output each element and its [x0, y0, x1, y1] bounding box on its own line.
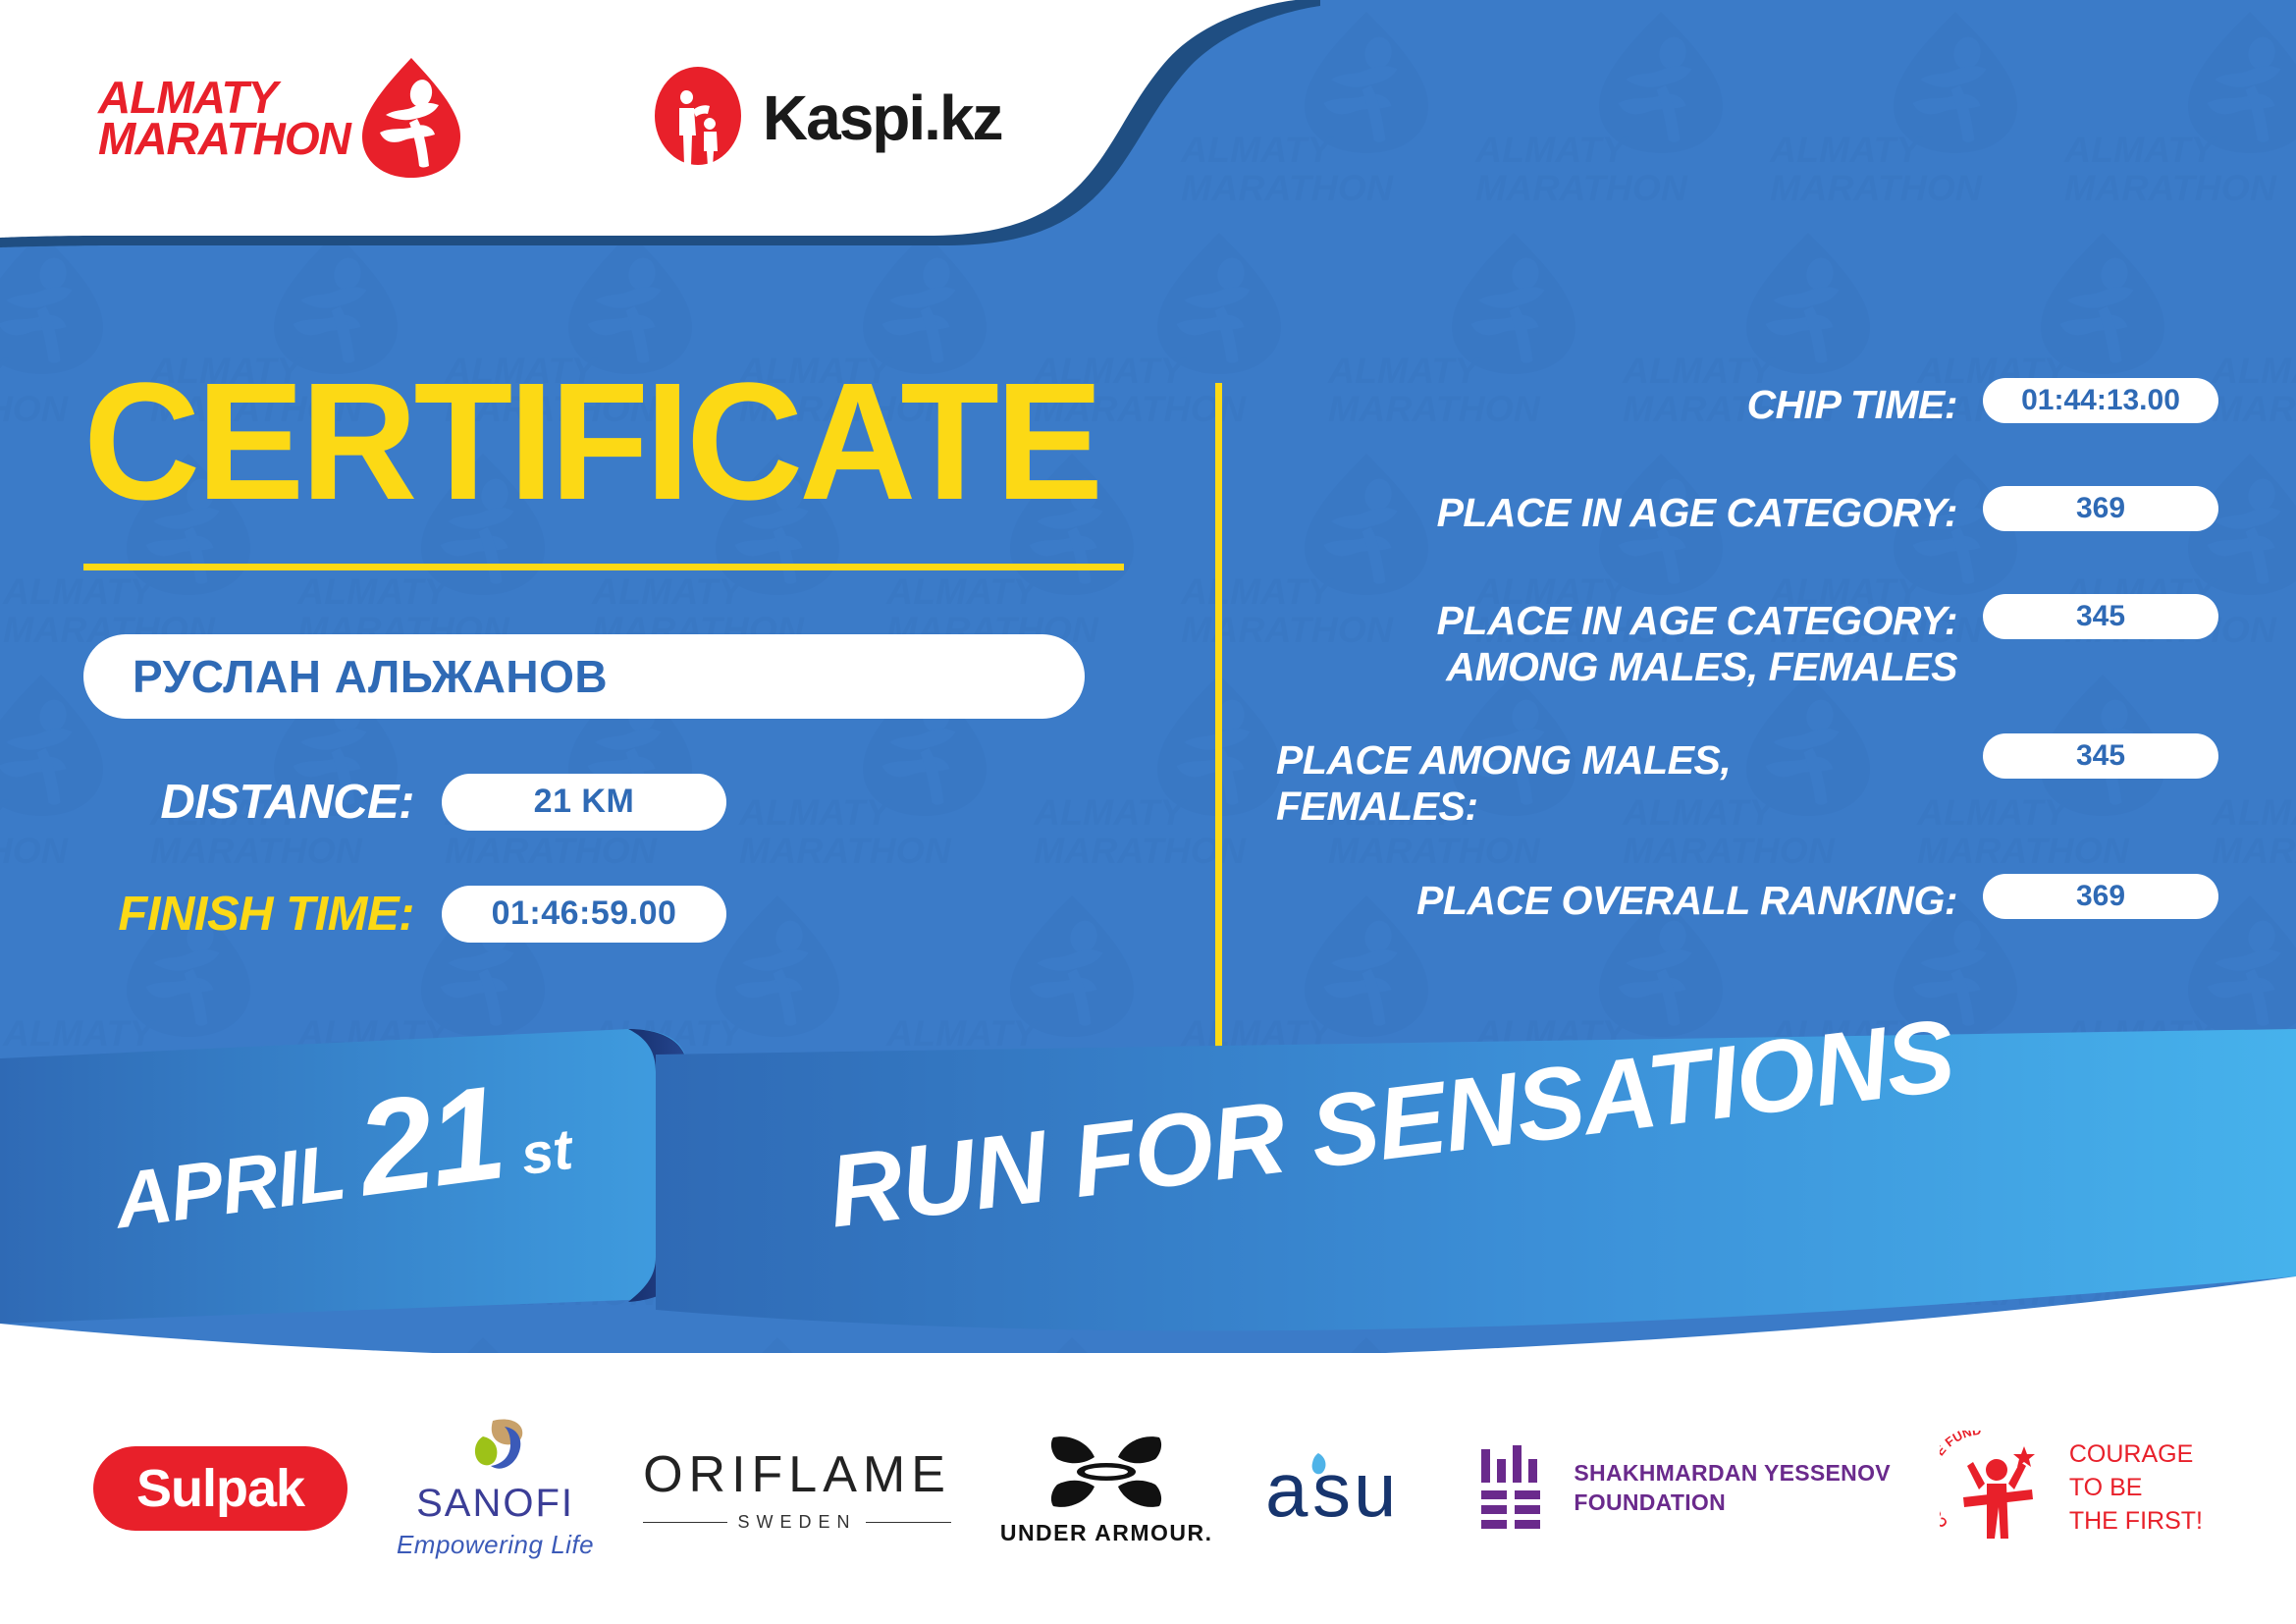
- oriflame-sub: SWEDEN: [643, 1512, 951, 1533]
- yessenov-line2: FOUNDATION: [1574, 1489, 1891, 1518]
- finish-time-label: FINISH TIME:: [83, 887, 442, 942]
- event-day: 21: [349, 1056, 510, 1226]
- sponsor-sulpak: Sulpak: [93, 1446, 347, 1531]
- stat-label-line2: FEMALES:: [1276, 784, 1957, 830]
- participant-name-field: РУСЛАН АЛЬЖАНОВ: [83, 634, 1085, 719]
- stat-row: PLACE OVERALL RANKING: 369: [1276, 874, 2218, 939]
- stat-row: PLACE AMONG MALES, FEMALES: 345: [1276, 733, 2218, 830]
- stat-row: PLACE IN AGE CATEGORY: 369: [1276, 486, 2218, 551]
- courage-line1: COURAGE: [2069, 1438, 2203, 1472]
- stat-value: 369: [2076, 880, 2125, 913]
- sponsor-under-armour: UNDER ARMOUR.: [1000, 1432, 1213, 1546]
- asu-logo: a s u: [1261, 1443, 1428, 1534]
- finish-time-value: 01:46:59.00: [492, 894, 677, 933]
- oriflame-rule-left: [643, 1522, 727, 1523]
- yessenov-foundation-logo: [1477, 1443, 1548, 1534]
- stat-label-line1: PLACE IN AGE CATEGORY:: [1276, 598, 1957, 644]
- stat-value: 01:44:13.00: [2021, 384, 2180, 417]
- courage-first-logo: CORPORATE FUND: [1940, 1431, 2054, 1546]
- sponsor-sanofi: SANOFI Empowering Life: [397, 1417, 594, 1560]
- courage-wordmark: COURAGE TO BE THE FIRST!: [2069, 1438, 2203, 1538]
- sponsor-bar: Sulpak SANOFI Empowering Life ORIFLAME S…: [0, 1353, 2296, 1624]
- sponsor-oriflame: ORIFLAME SWEDEN: [643, 1445, 951, 1533]
- certificate-canvas: ALMATY MARATHON ALMATY MARATHON ALMA: [0, 0, 2296, 1624]
- sulpak-logo: Sulpak: [93, 1446, 347, 1531]
- oriflame-rule-right: [866, 1522, 950, 1523]
- stat-value: 345: [2076, 600, 2125, 633]
- distance-label: DISTANCE:: [83, 775, 442, 830]
- svg-text:a: a: [1265, 1446, 1308, 1533]
- finish-time-row: FINISH TIME: 01:46:59.00: [83, 886, 1183, 943]
- sponsor-yessenov-foundation: SHAKHMARDAN YESSENOV FOUNDATION: [1477, 1443, 1891, 1534]
- event-month: APRIL: [110, 1127, 350, 1247]
- distance-value: 21 KM: [534, 783, 635, 821]
- stat-value-pill: 369: [1983, 874, 2218, 919]
- oriflame-country: SWEDEN: [737, 1512, 856, 1533]
- distance-row: DISTANCE: 21 KM: [83, 774, 1183, 831]
- distance-value-pill: 21 KM: [442, 774, 726, 831]
- sponsor-courage-fund: CORPORATE FUND COURAGE TO BE THE FIRST!: [1940, 1431, 2203, 1546]
- ribbon-banner: APRIL 21 st RUN FOR SENSATIONS: [0, 1029, 2296, 1353]
- finish-time-value-pill: 01:46:59.00: [442, 886, 726, 943]
- stat-value-pill: 369: [1983, 486, 2218, 531]
- sanofi-logo: [461, 1417, 530, 1478]
- stat-row: PLACE IN AGE CATEGORY: AMONG MALES, FEMA…: [1276, 594, 2218, 690]
- vertical-divider: [1215, 383, 1222, 1100]
- oriflame-wordmark: ORIFLAME: [643, 1445, 951, 1504]
- stat-label: PLACE IN AGE CATEGORY: AMONG MALES, FEMA…: [1276, 594, 1983, 690]
- stats-column: CHIP TIME: 01:44:13.00 PLACE IN AGE CATE…: [1276, 378, 2218, 982]
- stat-value: 369: [2076, 492, 2125, 525]
- stat-label: CHIP TIME:: [1276, 378, 1983, 428]
- title-underline: [83, 564, 1124, 570]
- stat-value-pill: 345: [1983, 594, 2218, 639]
- stat-row: CHIP TIME: 01:44:13.00: [1276, 378, 2218, 443]
- stat-label-line2: AMONG MALES, FEMALES: [1276, 644, 1957, 690]
- courage-line2: TO BE: [2069, 1472, 2203, 1505]
- stat-label: PLACE IN AGE CATEGORY:: [1276, 486, 1983, 536]
- stat-label: PLACE OVERALL RANKING:: [1276, 874, 1983, 924]
- sanofi-wordmark: SANOFI: [416, 1482, 574, 1526]
- stat-value-pill: 01:44:13.00: [1983, 378, 2218, 423]
- event-day-suffix: st: [517, 1116, 576, 1188]
- yessenov-line1: SHAKHMARDAN YESSENOV: [1574, 1459, 1891, 1489]
- sponsor-asu: a s u: [1261, 1443, 1428, 1534]
- stat-label: PLACE AMONG MALES, FEMALES:: [1276, 733, 1983, 830]
- page-title: CERTIFICATE: [83, 363, 1149, 522]
- courage-line3: THE FIRST!: [2069, 1505, 2203, 1539]
- participant-name: РУСЛАН АЛЬЖАНОВ: [133, 650, 608, 703]
- stat-value: 345: [2076, 739, 2125, 773]
- left-column: CERTIFICATE РУСЛАН АЛЬЖАНОВ DISTANCE: 21…: [83, 363, 1183, 943]
- yessenov-wordmark: SHAKHMARDAN YESSENOV FOUNDATION: [1574, 1459, 1891, 1518]
- sanofi-tagline: Empowering Life: [397, 1530, 594, 1560]
- svg-text:u: u: [1354, 1446, 1396, 1533]
- under-armour-wordmark: UNDER ARMOUR.: [1000, 1520, 1213, 1546]
- stat-value-pill: 345: [1983, 733, 2218, 779]
- under-armour-logo: [1045, 1432, 1167, 1512]
- stat-label-line1: PLACE AMONG MALES,: [1276, 737, 1957, 784]
